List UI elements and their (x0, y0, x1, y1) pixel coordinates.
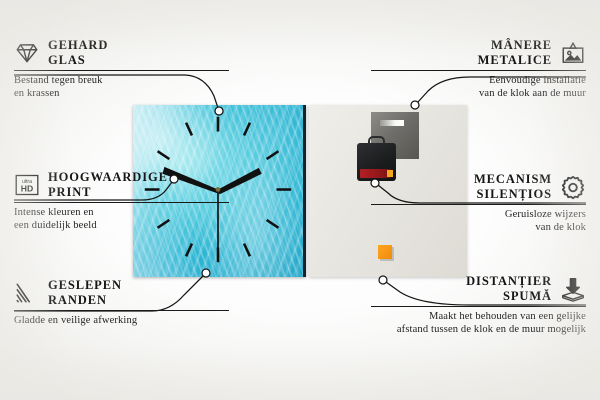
callout-title: DISTANȚIER SPUMĂ (466, 274, 552, 303)
callout-gehard-glas: GEHARD GLAS Bestand tegen breuk en krass… (14, 38, 229, 100)
callout-mecanism-silentios: MECANISM SILENȚIOS Geruisloze wijzers va… (371, 172, 586, 234)
callout-subtitle: Geruisloze wijzers van de klok (371, 208, 586, 234)
callout-manere-metalice: MÂNERE METALICE Eenvoudige installatie v… (371, 38, 586, 100)
spacer-arrow-icon (560, 276, 586, 302)
infographic-canvas: GEHARD GLAS Bestand tegen breuk en krass… (0, 0, 600, 400)
callout-header: GESLEPEN RANDEN (14, 278, 229, 307)
callout-rule (371, 306, 586, 307)
callout-rule (14, 310, 229, 311)
callout-title: MECANISM SILENȚIOS (474, 172, 552, 201)
callout-header: MÂNERE METALICE (371, 38, 586, 67)
callout-subtitle: Maakt het behouden van een gelijke afsta… (371, 310, 586, 336)
callout-rule (371, 70, 586, 71)
polished-edges-icon (14, 280, 40, 306)
callout-rule (14, 70, 229, 71)
diamond-icon (14, 40, 40, 66)
gear-icon (560, 174, 586, 200)
callout-rule (371, 204, 586, 205)
picture-hanger-icon (560, 40, 586, 66)
callout-header: ultra HD HOOGWAARDIGE PRINT (14, 170, 229, 199)
foam-spacer (378, 245, 392, 259)
callout-geslepen-randen: GESLEPEN RANDEN Gladde en veilige afwerk… (14, 278, 229, 327)
callout-subtitle: Intense kleuren en een duidelijk beeld (14, 206, 229, 232)
callout-distantier-spuma: DISTANȚIER SPUMĂ Maakt het behouden van … (371, 274, 586, 336)
callout-subtitle: Eenvoudige installatie van de klok aan d… (371, 74, 586, 100)
callout-hoogwaardige-print: ultra HD HOOGWAARDIGE PRINT Intense kleu… (14, 170, 229, 232)
callout-header: GEHARD GLAS (14, 38, 229, 67)
svg-text:HD: HD (21, 183, 33, 193)
callout-header: DISTANȚIER SPUMĂ (371, 274, 586, 303)
ultra-hd-icon: ultra HD (14, 172, 40, 198)
callout-rule (14, 202, 229, 203)
callout-subtitle: Gladde en veilige afwerking (14, 314, 229, 327)
callout-header: MECANISM SILENȚIOS (371, 172, 586, 201)
callout-title: GESLEPEN RANDEN (48, 278, 122, 307)
callout-subtitle: Bestand tegen breuk en krassen (14, 74, 229, 100)
callout-title: GEHARD GLAS (48, 38, 108, 67)
callout-title: HOOGWAARDIGE PRINT (48, 170, 168, 199)
hanger-hook (368, 136, 385, 145)
callout-title: MÂNERE METALICE (478, 38, 552, 67)
